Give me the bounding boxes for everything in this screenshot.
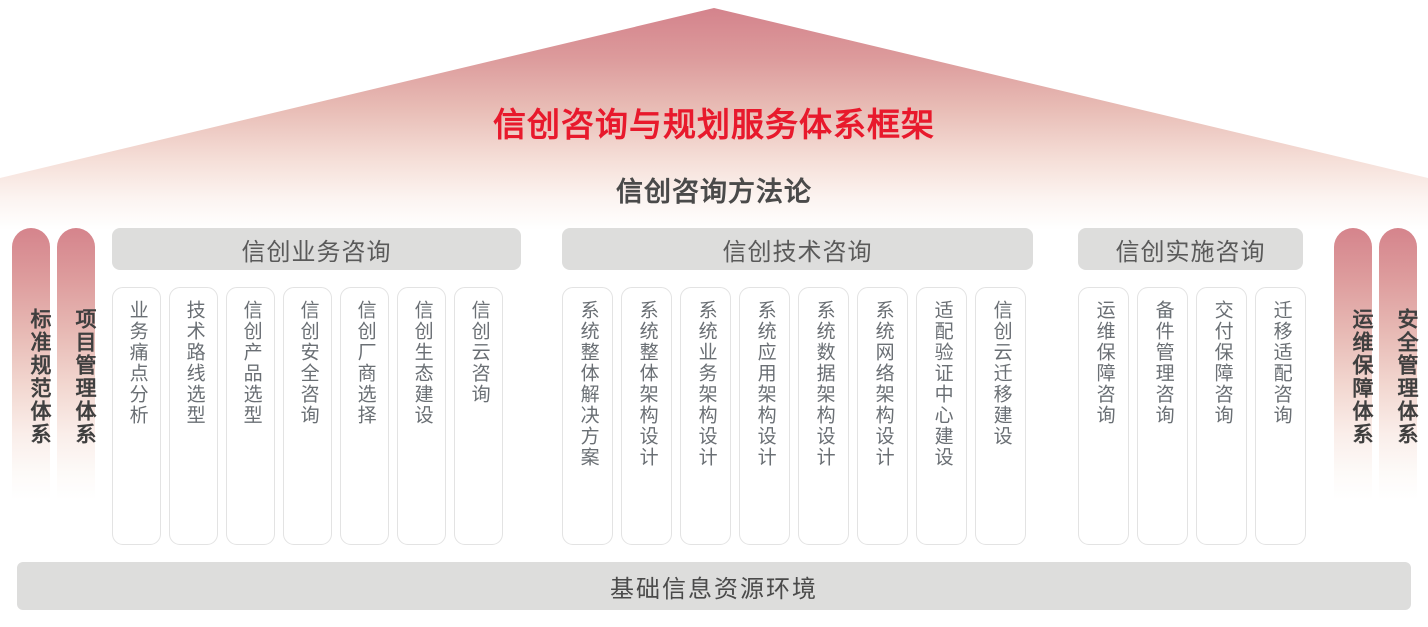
item-card[interactable]: 业务痛点分析 (112, 287, 161, 545)
diagram-canvas: 信创咨询与规划服务体系框架 信创咨询方法论 标准规范体系 项目管理体系 运维保障… (0, 0, 1428, 627)
item-card[interactable]: 交付保障咨询 (1196, 287, 1247, 545)
group-item-list: 业务痛点分析 技术路线选型 信创产品选型 信创安全咨询 信创厂商选择 信创生态建… (112, 287, 503, 545)
pillar-label: 运维保障体系 (1334, 308, 1372, 446)
group-header: 信创实施咨询 (1078, 228, 1303, 270)
item-card[interactable]: 迁移适配咨询 (1255, 287, 1306, 545)
item-card[interactable]: 信创厂商选择 (340, 287, 389, 545)
item-card[interactable]: 信创安全咨询 (283, 287, 332, 545)
item-card[interactable]: 信创云迁移建设 (975, 287, 1026, 545)
foundation-bar: 基础信息资源环境 (17, 562, 1411, 610)
item-card[interactable]: 信创云咨询 (454, 287, 503, 545)
item-card[interactable]: 信创产品选型 (226, 287, 275, 545)
item-label: 系统应用架构设计 (754, 300, 774, 534)
item-label: 系统数据架构设计 (813, 300, 833, 534)
item-card[interactable]: 运维保障咨询 (1078, 287, 1129, 545)
item-card[interactable]: 信创生态建设 (397, 287, 446, 545)
pillar-security-management-system: 安全管理体系 (1379, 228, 1417, 500)
group-item-list: 运维保障咨询 备件管理咨询 交付保障咨询 迁移适配咨询 (1078, 287, 1306, 545)
group-technical-consulting: 信创技术咨询 系统整体解决方案 系统整体架构设计 系统业务架构设计 系统应用架构… (562, 228, 1033, 270)
item-label: 业务痛点分析 (126, 300, 146, 534)
page-title: 信创咨询与规划服务体系框架 (0, 98, 1428, 146)
item-card[interactable]: 技术路线选型 (169, 287, 218, 545)
group-item-list: 系统整体解决方案 系统整体架构设计 系统业务架构设计 系统应用架构设计 系统数据… (562, 287, 1026, 545)
item-label: 系统网络架构设计 (872, 300, 892, 534)
item-card[interactable]: 系统整体架构设计 (621, 287, 672, 545)
item-label: 信创安全咨询 (297, 300, 317, 534)
item-label: 备件管理咨询 (1152, 300, 1172, 534)
item-label: 信创云咨询 (468, 300, 488, 534)
pillar-ops-assurance-system: 运维保障体系 (1334, 228, 1372, 500)
pillar-label: 安全管理体系 (1379, 308, 1417, 446)
item-card[interactable]: 系统整体解决方案 (562, 287, 613, 545)
item-label: 技术路线选型 (183, 300, 203, 534)
group-business-consulting: 信创业务咨询 业务痛点分析 技术路线选型 信创产品选型 信创安全咨询 信创厂商选… (112, 228, 521, 270)
group-header: 信创业务咨询 (112, 228, 521, 270)
pillar-label: 项目管理体系 (57, 308, 95, 446)
item-label: 系统整体解决方案 (577, 300, 597, 534)
pillar-project-management-system: 项目管理体系 (57, 228, 95, 500)
item-card[interactable]: 系统业务架构设计 (680, 287, 731, 545)
group-implementation-consulting: 信创实施咨询 运维保障咨询 备件管理咨询 交付保障咨询 迁移适配咨询 (1078, 228, 1303, 270)
item-label: 迁移适配咨询 (1270, 300, 1290, 534)
item-card[interactable]: 系统网络架构设计 (857, 287, 908, 545)
item-label: 系统整体架构设计 (636, 300, 656, 534)
item-label: 信创生态建设 (411, 300, 431, 534)
page-subtitle: 信创咨询方法论 (0, 170, 1428, 209)
item-card[interactable]: 适配验证中心建设 (916, 287, 967, 545)
item-label: 系统业务架构设计 (695, 300, 715, 534)
item-card[interactable]: 系统数据架构设计 (798, 287, 849, 545)
item-card[interactable]: 备件管理咨询 (1137, 287, 1188, 545)
item-card[interactable]: 系统应用架构设计 (739, 287, 790, 545)
item-label: 运维保障咨询 (1093, 300, 1113, 534)
pillar-label: 标准规范体系 (12, 308, 50, 446)
pillar-standard-spec-system: 标准规范体系 (12, 228, 50, 500)
item-label: 信创云迁移建设 (990, 300, 1010, 534)
item-label: 交付保障咨询 (1211, 300, 1231, 534)
item-label: 适配验证中心建设 (931, 300, 951, 534)
item-label: 信创产品选型 (240, 300, 260, 534)
group-header: 信创技术咨询 (562, 228, 1033, 270)
item-label: 信创厂商选择 (354, 300, 374, 534)
